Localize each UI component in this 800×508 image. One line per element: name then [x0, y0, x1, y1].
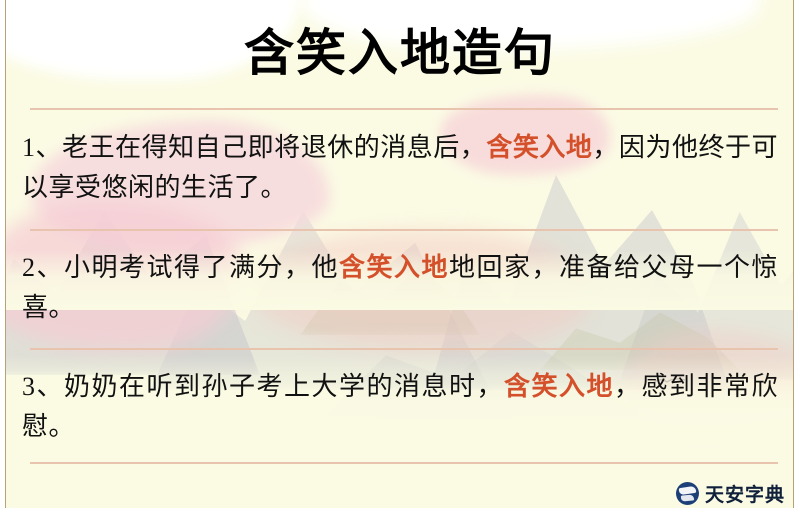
page-root: 含笑入地造句 1、老王在得知自己即将退休的消息后，含笑入地，因为他终于可以享受悠…: [0, 0, 800, 508]
idiom-highlight-3: 含笑入地: [504, 372, 614, 401]
divider-bottom: [30, 462, 778, 464]
sentence-index-1: 1、: [22, 133, 62, 162]
divider-1: [30, 229, 778, 231]
divider-2: [30, 348, 778, 350]
sentence-before-3: 奶奶在听到孙子考上大学的消息时，: [64, 372, 504, 401]
footer-brand-logo: 天安字典: [676, 480, 785, 507]
idiom-highlight-1: 含笑入地: [486, 133, 592, 162]
sentence-index-3: 3、: [22, 372, 64, 401]
divider-top: [30, 108, 778, 110]
frame-border-right: [793, 0, 794, 508]
idiom-highlight-2: 含笑入地: [339, 253, 449, 282]
sentence-index-2: 2、: [22, 253, 64, 282]
sentence-item-2: 2、小明考试得了满分，他含笑入地地回家，准备给父母一个惊喜。: [22, 248, 778, 328]
sentence-item-1: 1、老王在得知自己即将退休的消息后，含笑入地，因为他终于可以享受悠闲的生活了。: [22, 128, 778, 208]
seal-circle-icon: [676, 482, 699, 505]
sentence-before-1: 老王在得知自己即将退休的消息后，: [62, 133, 486, 162]
page-margin-right: [794, 0, 800, 508]
page-title: 含笑入地造句: [0, 22, 800, 85]
brand-name: 天安字典: [705, 480, 785, 507]
sentence-item-3: 3、奶奶在听到孙子考上大学的消息时，含笑入地，感到非常欣慰。: [22, 367, 778, 447]
sentence-before-2: 小明考试得了满分，他: [64, 253, 339, 282]
frame-border-left: [5, 0, 6, 508]
